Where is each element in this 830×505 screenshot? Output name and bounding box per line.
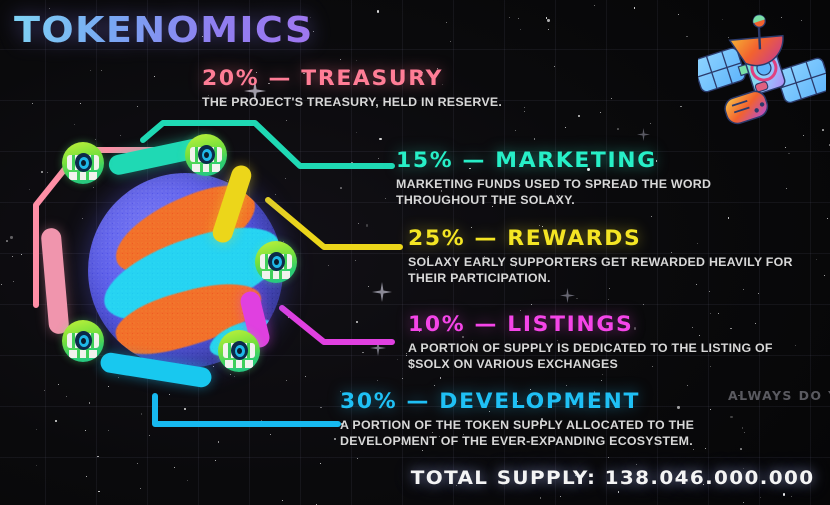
alien-character (218, 330, 260, 372)
allocation-heading: 15% — MARKETING (396, 148, 724, 172)
alien-character (185, 134, 227, 176)
satellite-icon (698, 12, 826, 138)
allocation-development: 30% — DEVELOPMENT A PORTION OF THE TOKEN… (340, 389, 694, 449)
alien-character (62, 320, 104, 362)
allocation-description: THE PROJECT'S TREASURY, HELD IN RESERVE. (202, 95, 502, 111)
allocation-listings: 10% — LISTINGS A PORTION OF SUPPLY IS DE… (408, 312, 773, 372)
total-supply-label: TOTAL SUPPLY: 138.046.000.000 (410, 467, 814, 489)
allocation-treasury: 20% — TREASURY THE PROJECT'S TREASURY, H… (202, 66, 502, 111)
allocation-heading: 10% — LISTINGS (408, 312, 787, 336)
allocation-marketing: 15% — MARKETING MARKETING FUNDS USED TO … (396, 148, 711, 208)
satellite-module (722, 89, 770, 127)
allocation-description: MARKETING FUNDS USED TO SPREAD THE WORD … (396, 177, 711, 208)
allocation-heading: 25% — REWARDS (408, 226, 808, 250)
alien-character (255, 241, 297, 283)
allocation-description: SOLAXY EARLY SUPPORTERS GET REWARDED HEA… (408, 255, 793, 286)
allocation-heading: 20% — TREASURY (202, 66, 514, 90)
page-title: TOKENOMICS (14, 10, 314, 51)
alien-character (62, 142, 104, 184)
allocation-description: A PORTION OF SUPPLY IS DEDICATED TO THE … (408, 341, 773, 372)
watermark-text: ALWAYS DO Y (728, 388, 830, 403)
arc-segment-treasury[interactable] (40, 227, 69, 334)
allocation-description: A PORTION OF THE TOKEN SUPPLY ALLOCATED … (340, 418, 694, 449)
tokenomics-planet-chart (40, 128, 330, 418)
allocation-rewards: 25% — REWARDS SOLAXY EARLY SUPPORTERS GE… (408, 226, 793, 286)
allocation-heading: 30% — DEVELOPMENT (340, 389, 708, 413)
